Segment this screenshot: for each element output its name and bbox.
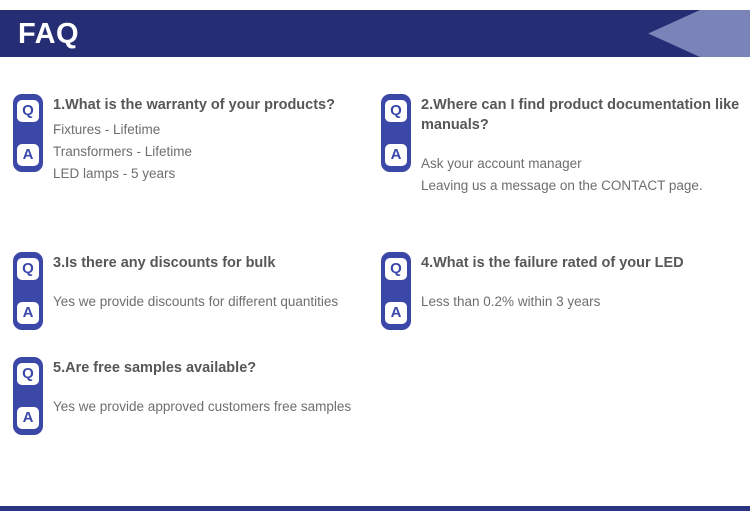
answer-letter-icon: A [17,407,39,429]
footer-divider [0,506,750,511]
question-letter-icon: Q [385,258,407,280]
layout-spacer [53,277,363,291]
qa-badge-icon: Q A [13,94,43,172]
faq-list: Q A 1.What is the warranty of your produ… [0,94,750,462]
layout-spacer [53,382,363,396]
header-chevron-shape [0,10,700,57]
faq-answers: Fixtures - Lifetime Transformers - Lifet… [53,119,363,185]
faq-answer-line: LED lamps - 5 years [53,163,363,185]
faq-question: 2.Where can I find product documentation… [421,95,741,135]
faq-answer-line: Yes we provide approved customers free s… [53,396,363,418]
layout-spacer [421,139,741,153]
qa-badge-icon: Q A [13,357,43,435]
faq-text-block: 4.What is the failure rated of your LED … [421,252,741,313]
answer-letter-icon: A [385,144,407,166]
faq-answer-line: Transformers - Lifetime [53,141,363,163]
faq-text-block: 5.Are free samples available? Yes we pro… [53,357,363,418]
badge-spacer [381,282,411,300]
faq-answers: Yes we provide discounts for different q… [53,291,363,313]
faq-row: Q A 5.Are free samples available? Yes we… [0,357,750,462]
faq-answer-line: Leaving us a message on the CONTACT page… [421,175,741,197]
faq-text-block: 2.Where can I find product documentation… [421,94,741,197]
faq-row: Q A 1.What is the warranty of your produ… [0,94,750,252]
faq-answers: Yes we provide approved customers free s… [53,396,363,418]
faq-question: 3.Is there any discounts for bulk [53,253,363,273]
faq-item-5[interactable]: Q A 5.Are free samples available? Yes we… [13,357,363,435]
faq-row: Q A 3.Is there any discounts for bulk Ye… [0,252,750,357]
faq-question: 4.What is the failure rated of your LED [421,253,741,273]
faq-item-4[interactable]: Q A 4.What is the failure rated of your … [381,252,741,330]
badge-spacer [13,282,43,300]
badge-spacer [381,124,411,142]
faq-answer-line: Ask your account manager [421,153,741,175]
faq-header-banner: FAQ [0,10,750,57]
faq-answer-line: Fixtures - Lifetime [53,119,363,141]
faq-answer-line: Yes we provide discounts for different q… [53,291,363,313]
qa-badge-icon: Q A [381,252,411,330]
answer-letter-icon: A [17,302,39,324]
faq-item-3[interactable]: Q A 3.Is there any discounts for bulk Ye… [13,252,363,330]
question-letter-icon: Q [385,100,407,122]
qa-badge-icon: Q A [381,94,411,172]
faq-answers: Ask your account manager Leaving us a me… [421,153,741,197]
question-letter-icon: Q [17,100,39,122]
page-title: FAQ [18,15,79,53]
answer-letter-icon: A [385,302,407,324]
qa-badge-icon: Q A [13,252,43,330]
badge-spacer [13,124,43,142]
faq-text-block: 1.What is the warranty of your products?… [53,94,363,185]
layout-spacer [421,277,741,291]
faq-question: 1.What is the warranty of your products? [53,95,363,115]
question-letter-icon: Q [17,258,39,280]
badge-spacer [13,387,43,405]
faq-answer-line: Less than 0.2% within 3 years [421,291,741,313]
question-letter-icon: Q [17,363,39,385]
faq-question: 5.Are free samples available? [53,358,363,378]
answer-letter-icon: A [17,144,39,166]
faq-item-2[interactable]: Q A 2.Where can I find product documenta… [381,94,741,197]
faq-text-block: 3.Is there any discounts for bulk Yes we… [53,252,363,313]
faq-answers: Less than 0.2% within 3 years [421,291,741,313]
faq-item-1[interactable]: Q A 1.What is the warranty of your produ… [13,94,363,185]
